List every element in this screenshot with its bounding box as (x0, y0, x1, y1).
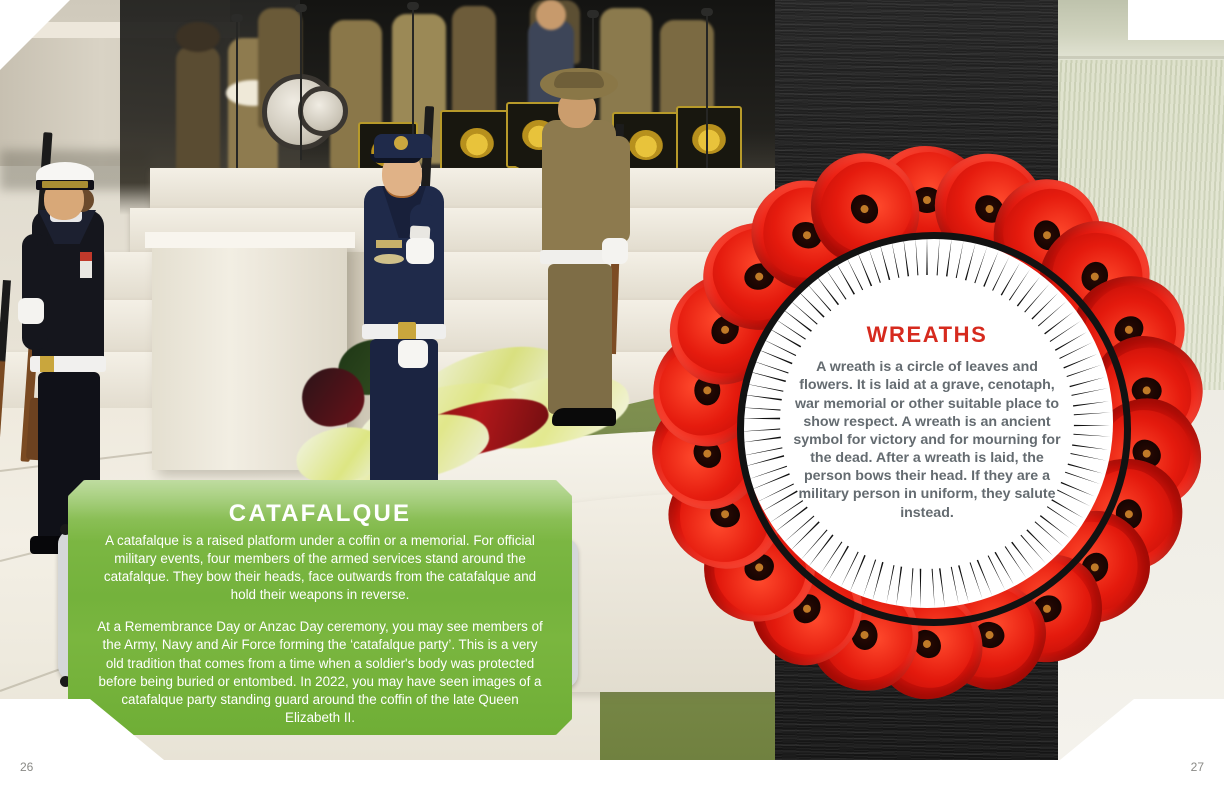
callout-gloss (68, 480, 572, 520)
wreaths-title: WREATHS (792, 322, 1062, 348)
wreath-text-block: WREATHS A wreath is a circle of leaves a… (792, 322, 1062, 522)
sailor-medal-ribbon (80, 252, 92, 261)
catafalque-callout: CATAFALQUE A catafalque is a raised plat… (68, 480, 572, 735)
officer-flying-badge (374, 254, 404, 264)
poppy-wreath-graphic: WREATHS A wreath is a circle of leaves a… (648, 143, 1206, 701)
officer-cap-badge-icon (394, 136, 408, 150)
page-bottom-margin (0, 760, 1224, 791)
soldier-legs (548, 264, 612, 414)
officer-name-tag (376, 240, 402, 248)
soldier-hat-crown (554, 72, 604, 88)
snare-drum (298, 86, 348, 136)
officer-glove (406, 238, 434, 264)
microphone-stand (236, 20, 238, 190)
wreath-text-disc: WREATHS A wreath is a circle of leaves a… (780, 275, 1074, 569)
soldier-boots (552, 408, 616, 426)
band-member (176, 22, 220, 52)
microphone-stand (300, 10, 302, 160)
sailor-arm (22, 234, 48, 350)
officer-glove (398, 340, 428, 368)
soldier-glove (602, 238, 628, 264)
army-soldier (528, 62, 648, 442)
wreaths-body: A wreath is a circle of leaves and flowe… (792, 358, 1062, 522)
page-spread: CATAFALQUE A catafalque is a raised plat… (0, 0, 1224, 791)
sailor-cap-tally (42, 181, 88, 188)
sailor-belt-buckle (40, 356, 54, 372)
soldier-arm (606, 136, 630, 244)
corner-notch-top-right (1128, 0, 1224, 40)
conductor-head (536, 0, 566, 30)
officer-arm (410, 204, 438, 324)
page-number-left-overlay: 26 (20, 760, 33, 774)
plinth-cap (145, 232, 355, 248)
catafalque-paragraph-1: A catafalque is a raised platform under … (94, 532, 546, 604)
catafalque-paragraph-2: At a Remembrance Day or Anzac Day ceremo… (94, 618, 546, 727)
page-number-right-overlay: 27 (1191, 760, 1204, 774)
sailor-glove (18, 298, 44, 324)
